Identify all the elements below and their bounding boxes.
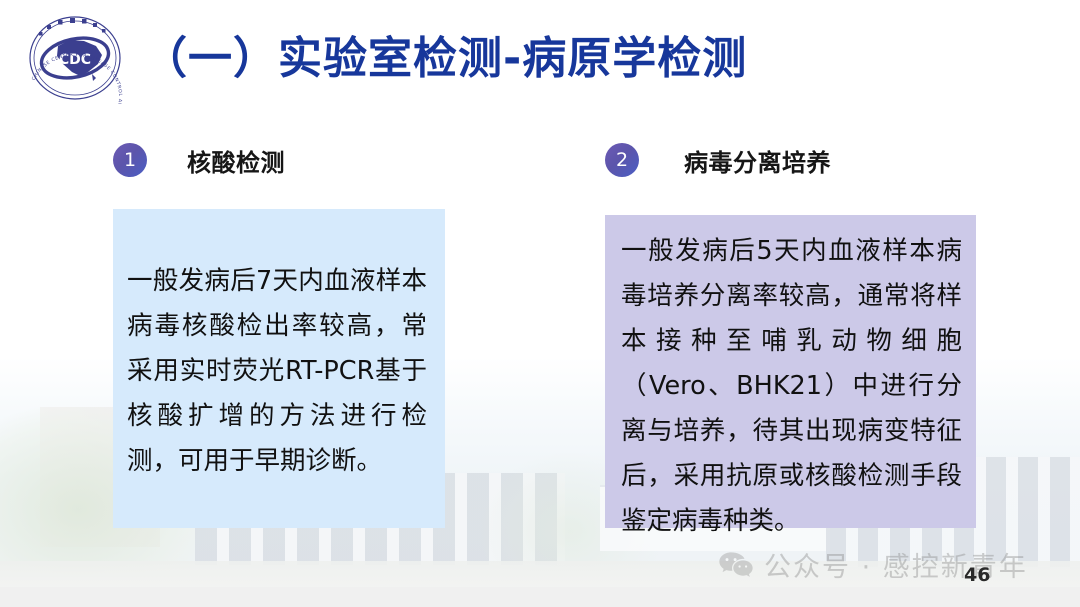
slide-header: CDC CHINESE CENTER FOR DISEASE CONTROL A…	[0, 0, 1080, 110]
section-title-1: 核酸检测	[187, 143, 285, 178]
section-badge-1: 1	[113, 143, 147, 177]
section-title-2: 病毒分离培养	[684, 143, 831, 178]
section-header-2: 2 病毒分离培养	[605, 137, 1005, 183]
page-number: 46	[964, 564, 990, 586]
page-title: （一）实验室检测-病原学检测	[143, 22, 747, 86]
chinese-cdc-logo-icon: CDC CHINESE CENTER FOR DISEASE CONTROL A…	[14, 12, 136, 104]
slide: CDC CHINESE CENTER FOR DISEASE CONTROL A…	[0, 0, 1080, 607]
photo-road	[0, 587, 1080, 607]
section-badge-2: 2	[605, 143, 639, 177]
section-column-2: 2 病毒分离培养 一般发病后5天内血液样本病毒培养分离率较高，通常将样本接种至哺…	[605, 137, 1005, 528]
wechat-icon	[718, 550, 754, 580]
section-column-1: 1 核酸检测 一般发病后7天内血液样本病毒核酸检出率较高，常采用实时荧光RT-P…	[113, 137, 513, 528]
section-header-1: 1 核酸检测	[113, 137, 513, 183]
photo-ground	[0, 561, 1080, 607]
section-body-1: 一般发病后7天内血液样本病毒核酸检出率较高，常采用实时荧光RT-PCR基于核酸扩…	[113, 209, 445, 528]
section-body-2: 一般发病后5天内血液样本病毒培养分离率较高，通常将样本接种至哺乳动物细胞（Ver…	[605, 215, 976, 528]
